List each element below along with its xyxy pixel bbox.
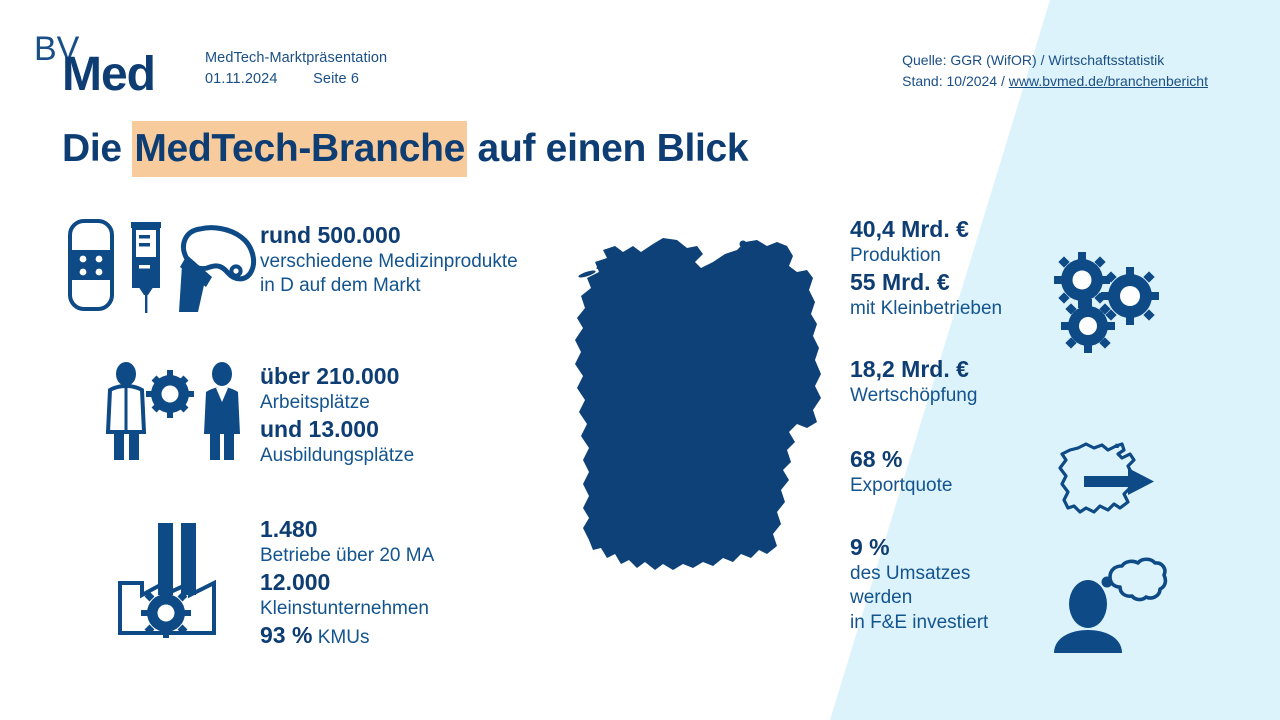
fact-medical-products: rund 500.000 verschiedene Medizinprodukt… bbox=[60, 215, 530, 335]
presentation-meta: MedTech-Marktpräsentation 01.11.2024 Sei… bbox=[205, 48, 387, 90]
fact-line: Produktion bbox=[850, 244, 1080, 269]
fact-line: über 210.000 bbox=[260, 362, 530, 391]
workforce-icon bbox=[60, 360, 260, 465]
fact-workforce-text: über 210.000 Arbeitsplätze und 13.000 Au… bbox=[260, 360, 530, 468]
title-highlight: MedTech-Branche bbox=[132, 121, 467, 177]
medical-products-icon bbox=[60, 215, 260, 315]
fact-line: 55 Mrd. € bbox=[850, 268, 1080, 297]
title-before: Die bbox=[62, 127, 132, 170]
slide-canvas: BV Med MedTech-Marktpräsentation 01.11.2… bbox=[0, 0, 1280, 720]
presentation-date: 01.11.2024 bbox=[205, 69, 309, 90]
page-number: Seite 6 bbox=[313, 69, 359, 90]
left-facts-column: rund 500.000 verschiedene Medizinprodukt… bbox=[60, 215, 530, 665]
fact-medical-products-text: rund 500.000 verschiedene Medizinprodukt… bbox=[260, 215, 530, 299]
fact-line: Wertschöpfung bbox=[850, 384, 1080, 409]
fact-rnd-investment: 9 % des Umsatzes werden in F&E investier… bbox=[850, 533, 1080, 636]
factory-icon bbox=[60, 515, 260, 645]
fact-line: Arbeitsplätze bbox=[260, 391, 530, 416]
fact-line: 9 % bbox=[850, 533, 1080, 562]
germany-map bbox=[545, 228, 845, 628]
svg-text:Med: Med bbox=[62, 48, 155, 94]
fact-line: 1.480 bbox=[260, 515, 530, 544]
fact-line: werden bbox=[850, 586, 1080, 611]
source-line-2: Stand: 10/2024 / www.bvmed.de/branchenbe… bbox=[902, 71, 1208, 92]
source-stand: Stand: 10/2024 / bbox=[902, 73, 1009, 89]
presentation-title: MedTech-Marktpräsentation bbox=[205, 48, 387, 69]
fact-line: Exportquote bbox=[850, 474, 1080, 499]
bvmed-logo: BV Med bbox=[20, 22, 210, 94]
export-arrow-icon bbox=[1056, 442, 1168, 528]
fact-line: Ausbildungsplätze bbox=[260, 444, 530, 469]
fact-line-kmu: 93 % KMUs bbox=[260, 621, 530, 651]
fact-workforce: über 210.000 Arbeitsplätze und 13.000 Au… bbox=[60, 360, 530, 500]
research-thought-icon bbox=[1052, 552, 1172, 657]
kmu-percent: 93 % bbox=[260, 622, 312, 648]
fact-line: in D auf dem Markt bbox=[260, 274, 530, 299]
fact-line: 12.000 bbox=[260, 568, 530, 597]
fact-line: Betriebe über 20 MA bbox=[260, 544, 530, 569]
fact-line: verschiedene Medizinprodukte bbox=[260, 250, 530, 275]
fact-factory: 1.480 Betriebe über 20 MA 12.000 Kleinst… bbox=[60, 515, 530, 665]
source-line-1: Quelle: GGR (WifOR) / Wirtschaftsstatist… bbox=[902, 50, 1208, 71]
fact-line: in F&E investiert bbox=[850, 611, 1080, 636]
fact-line: des Umsatzes bbox=[850, 562, 1080, 587]
fact-export-quota: 68 % Exportquote bbox=[850, 445, 1080, 533]
fact-line: 18,2 Mrd. € bbox=[850, 355, 1080, 384]
source-link[interactable]: www.bvmed.de/branchenbericht bbox=[1009, 73, 1208, 89]
fact-line: Kleinstunternehmen bbox=[260, 597, 530, 622]
fact-line: 68 % bbox=[850, 445, 1080, 474]
fact-line: und 13.000 bbox=[260, 415, 530, 444]
fact-line: mit Kleinbetrieben bbox=[850, 297, 1080, 322]
fact-production: 40,4 Mrd. € Produktion 55 Mrd. € mit Kle… bbox=[850, 215, 1080, 355]
page-title: Die MedTech-Branche auf einen Blick bbox=[62, 127, 748, 171]
fact-line: 40,4 Mrd. € bbox=[850, 215, 1080, 244]
right-facts-column: 40,4 Mrd. € Produktion 55 Mrd. € mit Kle… bbox=[850, 215, 1080, 636]
kmu-label: KMUs bbox=[312, 627, 369, 648]
source-note: Quelle: GGR (WifOR) / Wirtschaftsstatist… bbox=[902, 50, 1208, 92]
fact-line: rund 500.000 bbox=[260, 221, 530, 250]
fact-factory-text: 1.480 Betriebe über 20 MA 12.000 Kleinst… bbox=[260, 515, 530, 651]
title-after: auf einen Blick bbox=[467, 127, 748, 170]
gears-icon bbox=[1052, 248, 1172, 358]
fact-value-added: 18,2 Mrd. € Wertschöpfung bbox=[850, 355, 1080, 445]
